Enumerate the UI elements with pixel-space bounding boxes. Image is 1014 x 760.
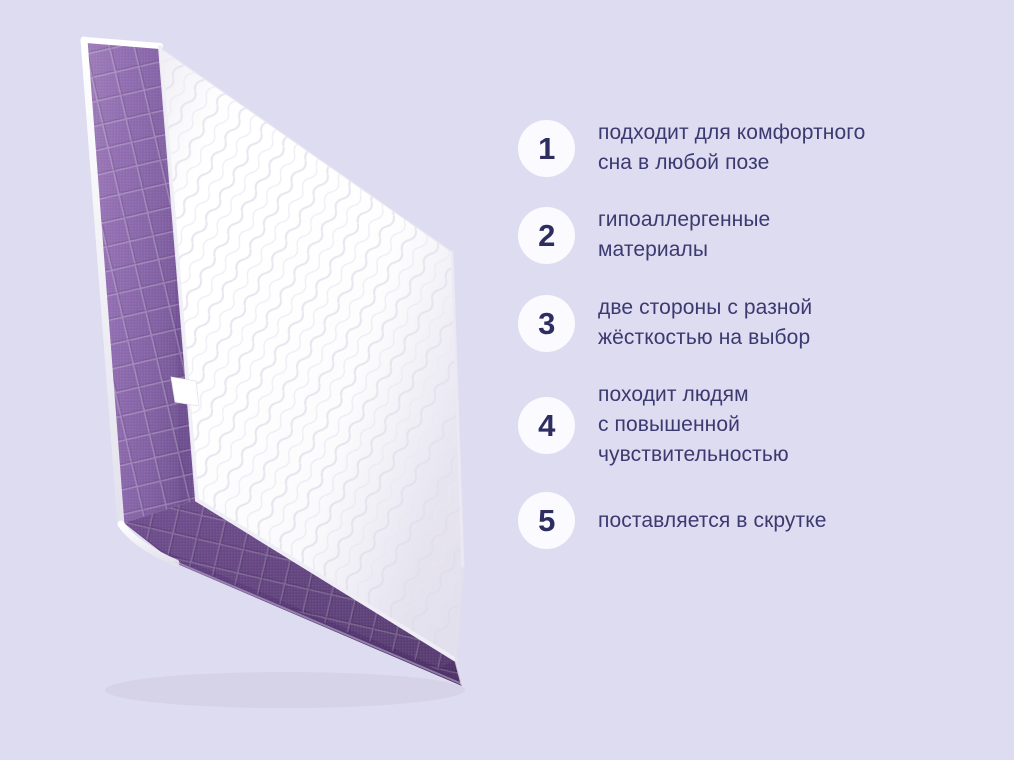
features-list: 1 подходит для комфортного сна в любой п… — [518, 118, 998, 549]
feature-label-3: две стороны с разной жёсткостью на выбор — [598, 293, 812, 353]
feature-label-2: гипоаллергенные материалы — [598, 205, 770, 265]
feature-item-2: 2 гипоаллергенные материалы — [518, 205, 998, 265]
feature-label-1: подходит для комфортного сна в любой поз… — [598, 118, 865, 178]
feature-item-5: 5 поставляется в скрутке — [518, 492, 998, 549]
feature-item-3: 3 две стороны с разной жёсткостью на выб… — [518, 293, 998, 353]
feature-label-4: походит людям с повышенной чувствительно… — [598, 380, 789, 470]
feature-badge-2: 2 — [518, 207, 575, 264]
feature-badge-4: 4 — [518, 397, 575, 454]
feature-badge-3: 3 — [518, 295, 575, 352]
mattress-shadow — [105, 672, 465, 708]
feature-item-1: 1 подходит для комфортного сна в любой п… — [518, 118, 998, 178]
product-image — [0, 0, 510, 760]
mattress-illustration — [0, 0, 510, 760]
page-root: 1 подходит для комфортного сна в любой п… — [0, 0, 1014, 760]
brand-tag — [171, 377, 199, 406]
feature-item-4: 4 походит людям с повышенной чувствитель… — [518, 380, 998, 470]
feature-label-5: поставляется в скрутке — [598, 506, 827, 536]
feature-badge-1: 1 — [518, 120, 575, 177]
feature-badge-5: 5 — [518, 492, 575, 549]
